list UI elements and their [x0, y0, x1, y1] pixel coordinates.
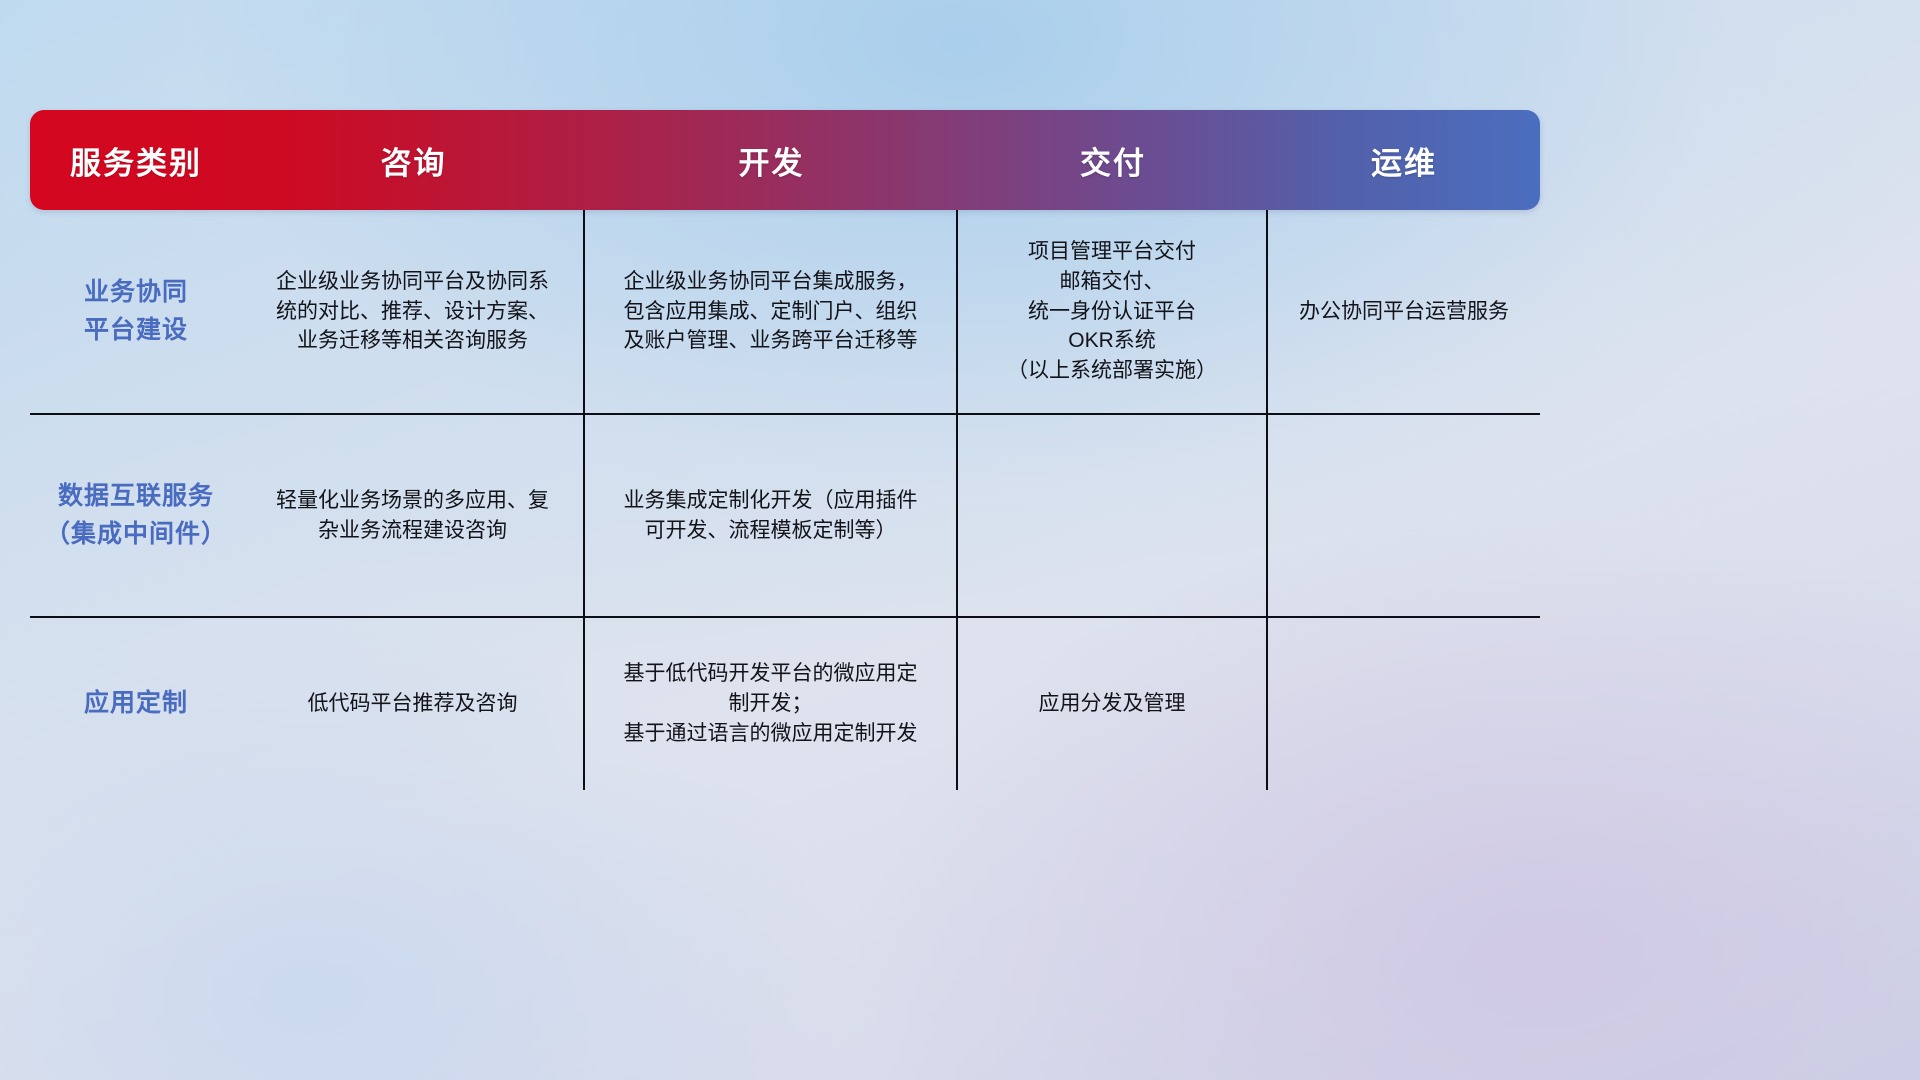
cell-development-row3: 基于低代码开发平台的微应用定 制开发； 基于通过语言的微应用定制开发 — [585, 618, 958, 790]
cell-development-row2: 业务集成定制化开发（应用插件 可开发、流程模板定制等） — [585, 415, 958, 616]
cell-consulting-row2: 轻量化业务场景的多应用、复 杂业务流程建设咨询 — [242, 415, 585, 616]
cell-operations-row3 — [1268, 618, 1540, 790]
cell-operations-row2 — [1268, 415, 1540, 616]
table-row: 业务协同 平台建设 企业级业务协同平台及协同系 统的对比、推荐、设计方案、 业务… — [30, 210, 1540, 415]
cell-category-row1: 业务协同 平台建设 — [30, 210, 242, 413]
column-header-development: 开发 — [585, 110, 958, 210]
cell-delivery-row3: 应用分发及管理 — [958, 618, 1268, 790]
slide-canvas: 服务类别 咨询 开发 交付 运维 业务协同 平台建设 企业级业务协同平台及协同系… — [0, 0, 1920, 1080]
cell-category-row2: 数据互联服务 （集成中间件） — [30, 415, 242, 616]
table-row: 应用定制 低代码平台推荐及咨询 基于低代码开发平台的微应用定 制开发； 基于通过… — [30, 618, 1540, 790]
column-header-operations: 运维 — [1268, 110, 1540, 210]
cell-delivery-row2 — [958, 415, 1268, 616]
cell-consulting-row1: 企业级业务协同平台及协同系 统的对比、推荐、设计方案、 业务迁移等相关咨询服务 — [242, 210, 585, 413]
column-header-consulting: 咨询 — [242, 110, 585, 210]
cell-operations-row1: 办公协同平台运营服务 — [1268, 210, 1540, 413]
table-body: 业务协同 平台建设 企业级业务协同平台及协同系 统的对比、推荐、设计方案、 业务… — [30, 210, 1540, 790]
cell-category-row3: 应用定制 — [30, 618, 242, 790]
service-matrix-table: 服务类别 咨询 开发 交付 运维 业务协同 平台建设 企业级业务协同平台及协同系… — [30, 110, 1540, 790]
column-header-category: 服务类别 — [30, 110, 242, 210]
table-header-row: 服务类别 咨询 开发 交付 运维 — [30, 110, 1540, 210]
cell-delivery-row1: 项目管理平台交付 邮箱交付、 统一身份认证平台 OKR系统 （以上系统部署实施） — [958, 210, 1268, 413]
cell-development-row1: 企业级业务协同平台集成服务， 包含应用集成、定制门户、组织 及账户管理、业务跨平… — [585, 210, 958, 413]
table-row: 数据互联服务 （集成中间件） 轻量化业务场景的多应用、复 杂业务流程建设咨询 业… — [30, 415, 1540, 618]
column-header-delivery: 交付 — [958, 110, 1268, 210]
cell-consulting-row3: 低代码平台推荐及咨询 — [242, 618, 585, 790]
